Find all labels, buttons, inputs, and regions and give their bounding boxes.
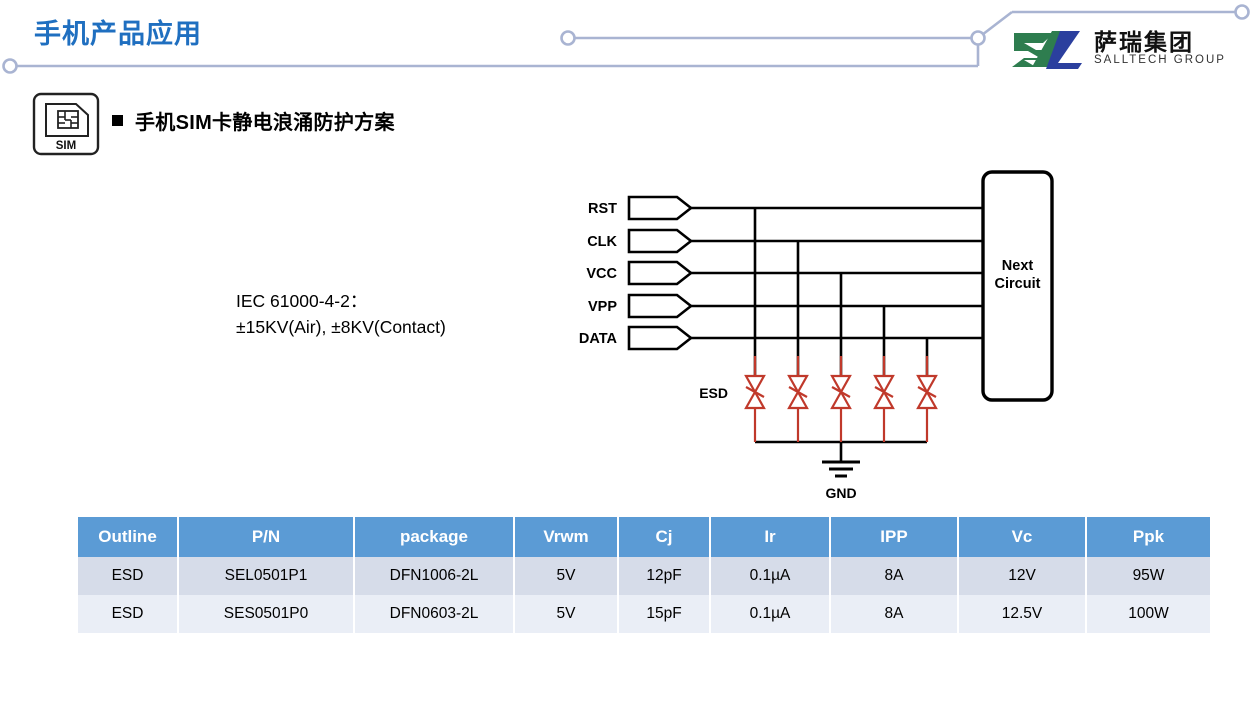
col-header-ir[interactable]: Ir <box>710 517 830 557</box>
table-header-row: Outline P/N package Vrwm Cj Ir IPP Vc Pp… <box>78 517 1210 557</box>
deco-node-left <box>4 60 17 73</box>
cell-vc: 12.5V <box>958 595 1086 633</box>
brand-logo: 萨瑞集团 SALLTECH GROUP <box>1010 20 1240 78</box>
cell-package: DFN0603-2L <box>354 595 514 633</box>
pin-connector-rst <box>629 197 691 219</box>
esd-diode-2 <box>789 356 807 442</box>
sim-card-icon: SIM <box>32 92 100 156</box>
cell-vrwm: 5V <box>514 595 618 633</box>
pin-label-vcc: VCC <box>586 266 617 282</box>
pin-connector-vcc <box>629 262 691 284</box>
table-row[interactable]: ESD SES0501P0 DFN0603-2L 5V 15pF 0.1µA 8… <box>78 595 1210 633</box>
spec-table: Outline P/N package Vrwm Cj Ir IPP Vc Pp… <box>78 517 1210 633</box>
pin-connector-vpp <box>629 295 691 317</box>
bullet-square-icon <box>112 115 123 126</box>
deco-node-far-right <box>1236 6 1249 19</box>
salltech-logo-mark <box>1010 25 1088 73</box>
table-row[interactable]: ESD SEL0501P1 DFN1006-2L 5V 12pF 0.1µA 8… <box>78 557 1210 595</box>
esd-label: ESD <box>699 385 728 401</box>
col-header-vc[interactable]: Vc <box>958 517 1086 557</box>
esd-diode-4 <box>875 356 893 442</box>
cell-vc: 12V <box>958 557 1086 595</box>
cell-ir: 0.1µA <box>710 595 830 633</box>
page-title: 手机产品应用 <box>34 12 202 51</box>
iec-standard-note: IEC 61000-4-2： ±15KV(Air), ±8KV(Contact) <box>236 288 446 340</box>
cell-pn: SES0501P0 <box>178 595 354 633</box>
cell-outline: ESD <box>78 595 178 633</box>
gnd-label: GND <box>825 485 856 501</box>
col-header-cj[interactable]: Cj <box>618 517 710 557</box>
iec-note-line1: IEC 61000-4-2： <box>236 288 446 314</box>
next-circuit-label-line2: Circuit <box>995 276 1041 292</box>
esd-diode-5 <box>918 356 936 442</box>
pin-label-rst: RST <box>588 201 617 217</box>
col-header-pn[interactable]: P/N <box>178 517 354 557</box>
col-header-ppk[interactable]: Ppk <box>1086 517 1210 557</box>
pin-label-vpp: VPP <box>588 299 617 315</box>
cell-package: DFN1006-2L <box>354 557 514 595</box>
cell-outline: ESD <box>78 557 178 595</box>
next-circuit-label-line1: Next <box>1002 258 1034 274</box>
col-header-ipp[interactable]: IPP <box>830 517 958 557</box>
cell-cj: 12pF <box>618 557 710 595</box>
cell-cj: 15pF <box>618 595 710 633</box>
cell-ipp: 8A <box>830 557 958 595</box>
deco-node-mid <box>562 32 575 45</box>
iec-note-line2: ±15KV(Air), ±8KV(Contact) <box>236 314 446 340</box>
col-header-outline[interactable]: Outline <box>78 517 178 557</box>
section-heading: 手机SIM卡静电浪涌防护方案 <box>112 106 395 135</box>
esd-diode-1 <box>746 356 764 442</box>
pin-label-clk: CLK <box>587 234 617 250</box>
slide-canvas: 手机产品应用 萨瑞集团 SALLTECH GROUP SIM 手机SIM卡静电浪… <box>0 0 1256 703</box>
deco-node-right <box>972 32 985 45</box>
logo-english-name: SALLTECH GROUP <box>1094 54 1226 68</box>
ground-symbol <box>822 442 860 476</box>
esd-protection-schematic: Next Circuit RST CLK VCC VPP DATA <box>560 160 1090 510</box>
esd-diode-group <box>746 356 936 442</box>
cell-ppk: 100W <box>1086 595 1210 633</box>
logo-text: 萨瑞集团 SALLTECH GROUP <box>1094 30 1226 68</box>
section-title: 手机SIM卡静电浪涌防护方案 <box>135 106 395 135</box>
esd-diode-3 <box>832 356 850 442</box>
pin-connector-data <box>629 327 691 349</box>
cell-ipp: 8A <box>830 595 958 633</box>
cell-ir: 0.1µA <box>710 557 830 595</box>
sim-icon-label: SIM <box>56 140 76 152</box>
cell-pn: SEL0501P1 <box>178 557 354 595</box>
cell-ppk: 95W <box>1086 557 1210 595</box>
col-header-package[interactable]: package <box>354 517 514 557</box>
col-header-vrwm[interactable]: Vrwm <box>514 517 618 557</box>
pin-label-data: DATA <box>579 331 618 347</box>
logo-chinese-name: 萨瑞集团 <box>1094 30 1226 54</box>
cell-vrwm: 5V <box>514 557 618 595</box>
pin-connector-clk <box>629 230 691 252</box>
